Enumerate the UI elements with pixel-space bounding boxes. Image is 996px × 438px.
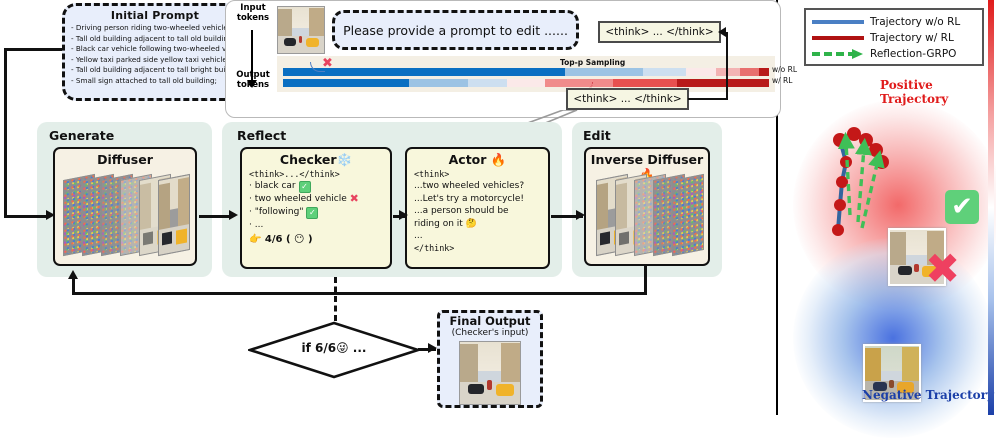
checker-title: Checker❄️ <box>242 152 390 168</box>
think-box-top: <think> ... </think> <box>598 21 721 43</box>
actor-line: </think> <box>407 242 548 254</box>
initial-prompt-title: Initial Prompt <box>71 9 239 22</box>
edit-prompt-bubble: Please provide a prompt to edit ...... <box>332 10 579 50</box>
prompt-to-generate-rail <box>4 48 7 217</box>
feedback-loop-right-vertical <box>644 266 647 294</box>
sampling-bar-segment <box>740 68 759 76</box>
sampling-bar-segment <box>686 68 715 76</box>
flow-arrow-checker-to-actor-head-icon <box>399 210 408 220</box>
checker-line: <think>...</think> <box>242 168 390 180</box>
sampling-bar-segment <box>507 79 546 87</box>
sampling-x-mark-icon: ✖ <box>322 57 333 70</box>
diffuser-title: Diffuser <box>55 152 195 167</box>
initial-prompt-line: - Black car vehicle following two-wheele… <box>71 44 239 55</box>
prompt-to-generate-rail-top <box>4 48 62 51</box>
initial-prompt-line: - Driving person riding two-wheeled vehi… <box>71 23 239 34</box>
checker-score: 👉 4/6 ( 😶 ) <box>242 234 390 246</box>
checker-line-text: · two wheeled vehicle <box>249 194 347 204</box>
decision-dashed-line <box>334 277 337 321</box>
legend-label-grpo: Reflection-GRPO <box>870 48 956 60</box>
initial-prompt-line: - Tall old building adjacent to tall bri… <box>71 65 239 76</box>
sampling-bar-without-rl <box>283 68 769 76</box>
negative-trajectory-label: Negative Trajectory <box>862 388 994 402</box>
diffuser-image-stack <box>63 171 191 257</box>
inverse-diffuser-image-stack <box>596 171 706 257</box>
trajectory-colorbar <box>988 0 994 415</box>
initial-prompt-box: Initial Prompt - Driving person riding t… <box>62 3 248 101</box>
feedback-loop-left-vertical <box>72 278 75 294</box>
input-tokens-label2: tokens <box>231 14 275 24</box>
legend-label-w-rl: Trajectory w/ RL <box>870 32 954 44</box>
check-icon: ✓ <box>299 181 311 193</box>
legend-label-wo-rl: Trajectory w/o RL <box>870 16 960 28</box>
sampling-bar-segment <box>409 79 467 87</box>
initial-prompt-line: - Small sign attached to tall old buildi… <box>71 76 239 87</box>
checker-line: · two wheeled vehicle ✖ <box>242 193 390 205</box>
row-label-w-rl: w/ RL <box>772 75 812 86</box>
checker-line-text: · black car <box>249 181 296 191</box>
final-output-thumbnail <box>459 341 521 405</box>
feedback-loop-bottom-horizontal <box>72 292 647 295</box>
think-loop-line-horizontal <box>688 98 728 100</box>
initial-prompt-line: - Yellow taxi parked side yellow taxi ve… <box>71 55 239 66</box>
legend-swatch-w-rl <box>812 30 864 46</box>
sampling-bar-segment <box>759 68 769 76</box>
input-image-thumbnail <box>277 6 325 54</box>
flow-arrow-generate-to-reflect-line <box>199 215 231 218</box>
checker-line: · black car ✓ <box>242 180 390 193</box>
checker-title-text: Checker <box>280 152 337 167</box>
legend-swatch-wo-rl <box>812 14 864 30</box>
final-output-title: Final Output <box>440 315 540 328</box>
actor-line: riding on it 🤔 <box>407 218 548 230</box>
fire-icon: 🔥 <box>491 152 507 167</box>
think-box-bottom: <think> ... </think> <box>566 88 689 110</box>
sampling-bar-segment <box>613 79 676 87</box>
checker-box: Checker❄️ <think>...</think> · black car… <box>240 147 392 269</box>
feedback-loop-arrow-head-icon <box>68 270 78 279</box>
checker-line: · "following" ✓ <box>242 206 390 219</box>
tokens-flow-arrow-line <box>251 30 253 82</box>
sampling-row-labels: w/o RL w/ RL <box>772 64 812 86</box>
actor-line: ...Let's try a motorcycle! <box>407 193 548 205</box>
initial-prompt-line: - Tall old building adjacent to tall old… <box>71 34 239 45</box>
tokens-flow-arrow-head-icon <box>247 80 257 88</box>
checker-line-text: · "following" <box>249 207 303 217</box>
decision-to-final-head-icon <box>428 343 437 353</box>
flow-arrow-into-generate-head-icon <box>46 210 55 220</box>
actor-title: Actor 🔥 <box>407 152 548 168</box>
actor-line: ...two wheeled vehicles? <box>407 180 548 192</box>
tokens-column: Input tokens Output tokens <box>231 4 275 116</box>
dashed-arrow-icon <box>812 46 864 62</box>
sampling-bar-with-rl <box>283 79 769 87</box>
actor-title-text: Actor <box>449 152 487 167</box>
legend: Trajectory w/o RL Trajectory w/ RL Refle… <box>804 8 984 66</box>
snowflake-icon: ❄️ <box>337 152 353 167</box>
flow-arrow-generate-to-reflect-head-icon <box>229 210 238 220</box>
actor-line: <think> <box>407 168 548 180</box>
flow-arrow-actor-to-edit-head-icon <box>576 210 585 220</box>
final-output-subtitle: (Checker's input) <box>440 328 540 339</box>
final-output-box: Final Output (Checker's input) <box>437 310 543 408</box>
edit-prompt-text: Please provide a prompt to edit ...... <box>343 23 568 38</box>
legend-swatch-grpo <box>812 46 864 62</box>
inverse-diffuser-title-text: Inverse Diffuser <box>591 152 703 167</box>
stage-reflect-title: Reflect <box>237 128 286 143</box>
positive-check-icon: ✔ <box>945 190 979 224</box>
negative-cross-icon: ✖ <box>925 248 960 290</box>
check-icon: ✓ <box>306 207 318 219</box>
legend-row-wo-rl: Trajectory w/o RL <box>812 14 976 30</box>
sampling-bar-segment <box>677 79 769 87</box>
actor-line: ... <box>407 230 548 242</box>
sampling-bar-segment <box>643 68 687 76</box>
sampling-bar-segment <box>283 79 409 87</box>
cross-icon: ✖ <box>350 192 359 205</box>
legend-row-w-rl: Trajectory w/ RL <box>812 30 976 46</box>
actor-box: Actor 🔥 <think> ...two wheeled vehicles?… <box>405 147 550 269</box>
decision-label: if 6/6😜 ... <box>286 341 382 355</box>
sampling-bar-segment <box>565 68 643 76</box>
stage-generate-title: Generate <box>49 128 114 143</box>
top-p-sampling-label: Top-p Sampling <box>560 58 625 67</box>
positive-trajectory-label: Positive Trajectory <box>880 78 996 106</box>
think-loop-line-vertical <box>726 32 728 100</box>
actor-line: ...a person should be <box>407 205 548 217</box>
inverse-diffuser-box: Inverse Diffuser 🔥 <box>584 147 710 266</box>
stage-edit-title: Edit <box>583 128 611 143</box>
legend-row-grpo: Reflection-GRPO <box>812 46 976 62</box>
sampling-bar-segment <box>468 79 507 87</box>
diffuser-box: Diffuser <box>53 147 197 266</box>
checker-line: · ... <box>242 219 390 231</box>
think-loop-arrow-head-icon <box>718 27 726 37</box>
flow-arrow-into-generate-line <box>4 215 48 218</box>
